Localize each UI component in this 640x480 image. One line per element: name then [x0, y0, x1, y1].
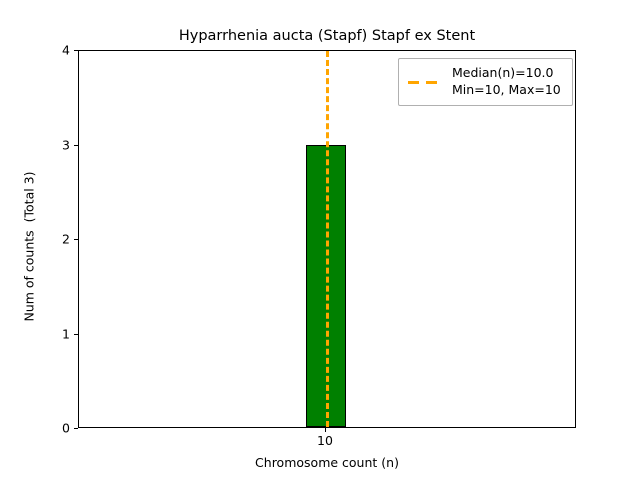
legend-entry-text: Median(n)=10.0 Min=10, Max=10: [452, 65, 561, 98]
dashed-line-icon: [407, 76, 443, 88]
y-tick-mark-0: [74, 428, 78, 429]
y-tick-label-4: 4: [0, 43, 70, 58]
legend-entry-median: Median(n)=10.0 Min=10, Max=10: [407, 65, 564, 98]
y-axis-label: Num of counts (Total 3): [22, 58, 37, 436]
plot-inner: [79, 51, 575, 427]
chart-title: Hyparrhenia aucta (Stapf) Stapf ex Stent: [78, 28, 576, 44]
legend-minmax-label: Min=10, Max=10: [452, 82, 561, 99]
plot-area: [78, 50, 576, 428]
chart-figure: Hyparrhenia aucta (Stapf) Stapf ex Stent…: [0, 0, 640, 480]
legend: Median(n)=10.0 Min=10, Max=10: [398, 58, 573, 106]
median-line: [326, 51, 329, 427]
x-axis-label: Chromosome count (n): [78, 455, 576, 470]
x-tick-label-10: 10: [285, 433, 365, 448]
x-tick-mark-10: [325, 428, 326, 432]
legend-median-label: Median(n)=10.0: [452, 65, 561, 82]
